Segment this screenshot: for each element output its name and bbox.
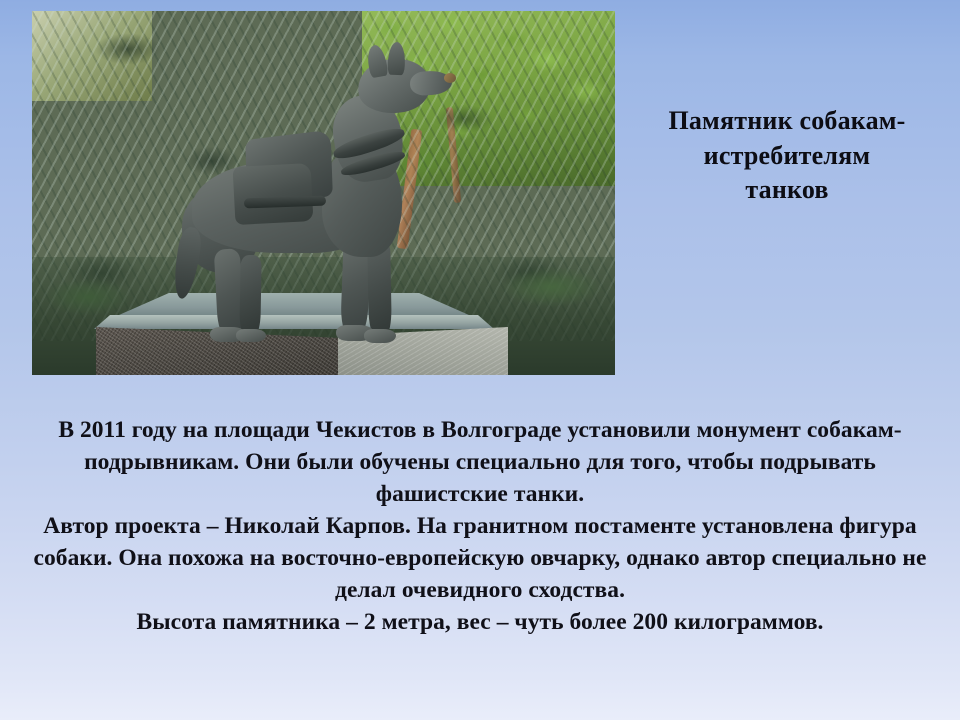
monument-photo <box>32 11 615 375</box>
slide-canvas: Памятник собакам- истребителям танков В … <box>0 0 960 720</box>
body-paragraph-1: В 2011 году на площади Чекистов в Волгог… <box>24 414 936 510</box>
statue-paw-hind-right <box>236 329 266 342</box>
slide-title: Памятник собакам- истребителям танков <box>628 104 946 208</box>
body-paragraph-3: Высота памятника – 2 метра, вес – чуть б… <box>24 606 936 638</box>
statue-nose <box>444 73 456 83</box>
slide-body-text: В 2011 году на площади Чекистов в Волгог… <box>24 414 936 638</box>
dog-statue <box>182 49 452 341</box>
body-paragraph-2: Автор проекта – Николай Карпов. На грани… <box>24 510 936 606</box>
slide-title-line-1: Памятник собакам- <box>628 104 946 139</box>
slide-title-line-2: истребителям <box>628 139 946 174</box>
statue-hind-leg-right <box>239 255 261 335</box>
statue-explosive-pack-lower <box>233 163 314 225</box>
statue-paw-front-right <box>364 329 396 343</box>
slide-title-line-3: танков <box>628 173 946 208</box>
